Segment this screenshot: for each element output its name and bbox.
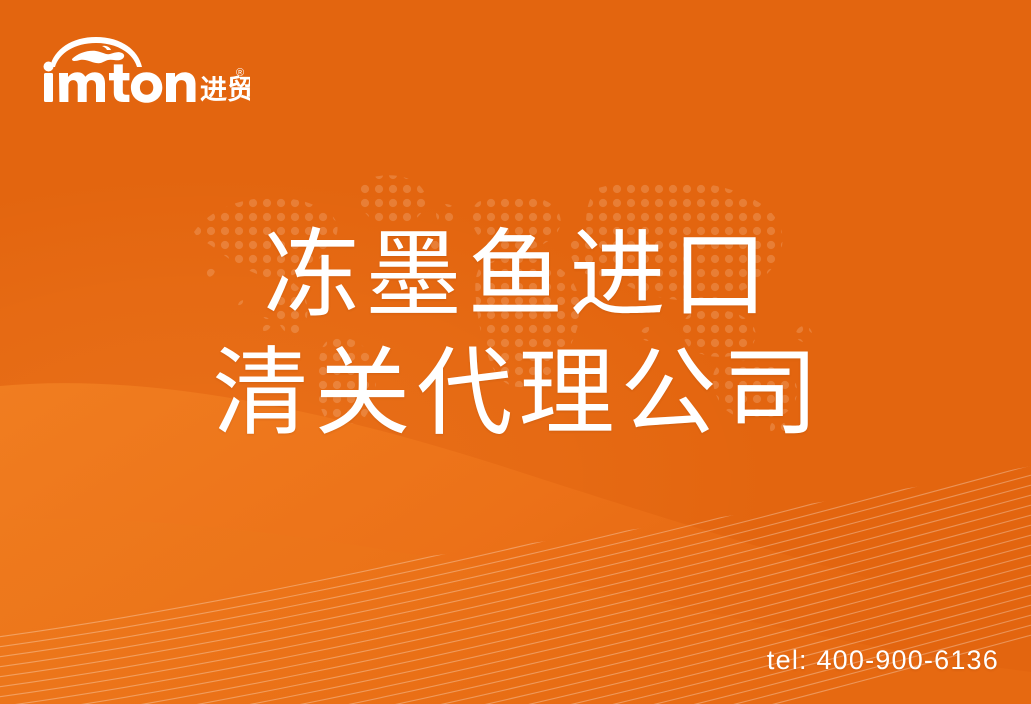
globe-arc-icon	[50, 37, 142, 67]
brand-logo-mark: 进贸通 ®	[38, 33, 250, 107]
brand-logo[interactable]: 进贸通 ®	[38, 33, 250, 107]
contact-phone[interactable]: tel: 400-900-6136	[767, 645, 999, 676]
page-title: 冻墨鱼进口 清关代理公司	[0, 228, 1031, 442]
registered-trademark-icon: ®	[236, 67, 244, 79]
brand-chinese-name: 进贸通	[200, 75, 250, 105]
headline-line-2: 清关代理公司	[0, 346, 1031, 442]
brand-wordmark	[44, 62, 196, 103]
poster-canvas: 进贸通 ® 冻墨鱼进口 清关代理公司 tel: 400-900-6136	[0, 0, 1031, 704]
headline-line-1: 冻墨鱼进口	[0, 228, 1031, 324]
